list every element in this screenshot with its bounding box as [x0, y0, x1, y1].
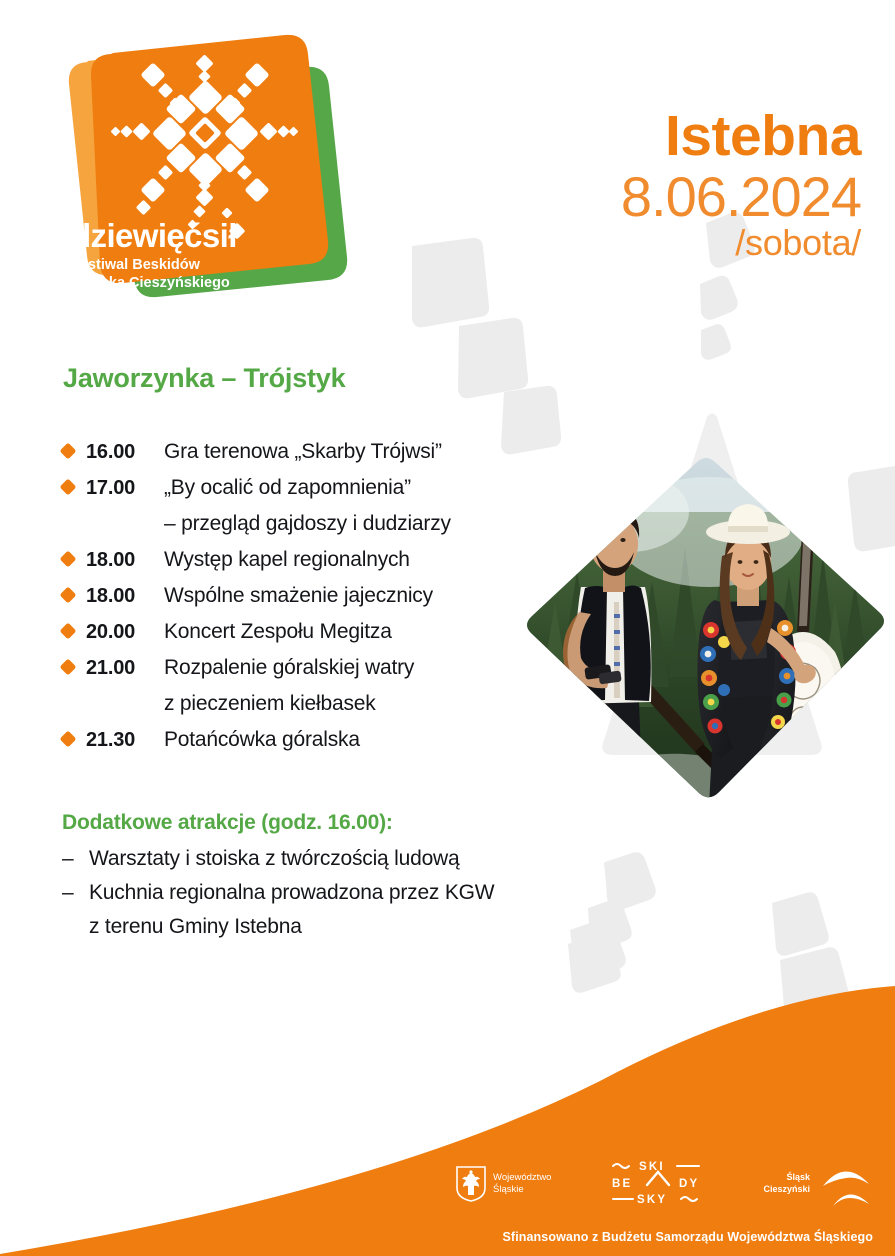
section-title: Jaworzynka – Trójstyk: [63, 363, 345, 394]
cieszyn-line1: Śląsk: [763, 1172, 810, 1184]
schedule-desc: Występ kapel regionalnych: [164, 543, 532, 577]
logo-subtitle-line2: i Śląska Cieszyńskiego: [71, 273, 230, 291]
diamond-bullet-icon: [60, 659, 77, 676]
schedule-desc: Koncert Zespołu Megitza: [164, 615, 532, 649]
wm-shape-5: [700, 276, 738, 320]
schedule-row-continuation: z pieczeniem kiełbasek: [62, 687, 532, 721]
schedule-time: 21.30: [86, 723, 164, 757]
logo-subtitle-line1: Festiwal Beskidów: [71, 257, 201, 273]
mountain-chevrons-icon: [819, 1160, 873, 1208]
dash-marker: –: [62, 876, 89, 910]
wm-shape-1: [412, 238, 489, 327]
financed-text: Sfinansowano z Budżetu Samorządu Wojewód…: [503, 1230, 874, 1244]
schedule-time: 17.00: [86, 471, 164, 505]
cieszyn-line2: Cieszyński: [763, 1184, 810, 1196]
wm-shape-13: [772, 892, 829, 956]
photo-woman: [697, 488, 844, 806]
bullet-cell: [62, 579, 86, 601]
schedule-list: 16.00 Gra terenowa „Skarby Trójwsi” 17.0…: [62, 435, 532, 759]
extras-item-continuation: z terenu Gminy Istebna: [89, 910, 592, 944]
schedule-time: 20.00: [86, 615, 164, 649]
schedule-time: 21.00: [86, 651, 164, 685]
bullet-cell: [62, 651, 86, 673]
schedule-desc: z pieczeniem kiełbasek: [164, 687, 532, 721]
schedule-row: 20.00 Koncert Zespołu Megitza: [62, 615, 532, 649]
bullet-cell: [62, 687, 86, 709]
schedule-desc: „By ocalić od zapomnienia”: [164, 471, 532, 505]
beskidy-logo-svg: SKI BE DY SKY: [607, 1157, 707, 1205]
extras-item: – Warsztaty i stoiska z twórczością ludo…: [62, 842, 592, 876]
schedule-row: 18.00 Występ kapel regionalnych: [62, 543, 532, 577]
diamond-bullet-icon: [60, 731, 77, 748]
band-photo: [519, 452, 893, 806]
festival-logo: dziewięćsił Festiwal Beskidów i Śląska C…: [43, 29, 363, 309]
bullet-cell: [62, 615, 86, 637]
logo-wojewodztwo-slaskie: Województwo Śląskie: [456, 1166, 551, 1202]
extras-title: Dodatkowe atrakcje (godz. 16.00):: [62, 808, 592, 838]
wm-shape-10: [605, 853, 650, 905]
diamond-bullet-icon: [60, 551, 77, 568]
schedule-row: 18.00 Wspólne smażenie jajecznicy: [62, 579, 532, 613]
logo-brand-text: dziewięćsił: [71, 217, 237, 254]
schedule-desc: – przegląd gajdoszy i dudziarzy: [164, 507, 532, 541]
bullet-cell: [62, 471, 86, 493]
schedule-row: 17.00 „By ocalić od zapomnienia”: [62, 471, 532, 505]
bullet-cell: [62, 543, 86, 565]
bullet-cell: [62, 435, 86, 457]
poster-root: dziewięćsił Festiwal Beskidów i Śląska C…: [0, 0, 895, 1256]
headline-block: Istebna 8.06.2024 /sobota/: [621, 108, 861, 262]
wojewodztwo-line2: Śląskie: [493, 1184, 551, 1196]
beskidy-line1-text: SKI: [639, 1161, 665, 1173]
headline-weekday: /sobota/: [621, 224, 861, 262]
headline-date: 8.06.2024: [621, 167, 861, 226]
wojewodztwo-line1: Województwo: [493, 1172, 551, 1184]
schedule-row: 21.00 Rozpalenie góralskiej watry: [62, 651, 532, 685]
silesian-eagle-shield-icon: [456, 1166, 486, 1202]
festival-logo-svg: dziewięćsił Festiwal Beskidów i Śląska C…: [43, 29, 363, 309]
beskidy-line3-text: SKY: [637, 1194, 667, 1205]
dash-marker: –: [62, 842, 89, 876]
footer: Województwo Śląskie SKI BE DY SKY: [0, 1146, 895, 1256]
beskidy-line2-left-text: BE: [612, 1178, 632, 1190]
schedule-desc: Potańcówka góralska: [164, 723, 532, 757]
wm-shape-6: [701, 324, 731, 360]
diamond-bullet-icon: [60, 443, 77, 460]
wm-shape-2: [458, 318, 528, 398]
logo-slask-cieszynski: Śląsk Cieszyński: [763, 1160, 873, 1208]
band-photo-svg: [519, 452, 893, 806]
logo-beskidy: SKI BE DY SKY: [607, 1157, 707, 1210]
schedule-row-continuation: – przegląd gajdoszy i dudziarzy: [62, 507, 532, 541]
footer-logos-row: Województwo Śląskie SKI BE DY SKY: [456, 1157, 873, 1210]
extras-item-text: Warsztaty i stoiska z twórczością ludową: [89, 842, 592, 876]
bullet-cell: [62, 723, 86, 745]
schedule-row: 21.30 Potańcówka góralska: [62, 723, 532, 757]
diamond-bullet-icon: [60, 623, 77, 640]
schedule-row: 16.00 Gra terenowa „Skarby Trójwsi”: [62, 435, 532, 469]
beskidy-line2-right-text: DY: [679, 1178, 699, 1190]
extras-item: – Kuchnia regionalna prowadzona przez KG…: [62, 876, 592, 910]
schedule-time: 16.00: [86, 435, 164, 469]
schedule-desc: Gra terenowa „Skarby Trójwsi”: [164, 435, 532, 469]
bullet-cell: [62, 507, 86, 529]
wm-shape-8: [604, 852, 656, 911]
schedule-time: 18.00: [86, 579, 164, 613]
wm-shape-11: [588, 899, 632, 950]
diamond-bullet-icon: [60, 479, 77, 496]
extras-block: Dodatkowe atrakcje (godz. 16.00): – Wars…: [62, 808, 592, 944]
schedule-time: 18.00: [86, 543, 164, 577]
extras-item-text: Kuchnia regionalna prowadzona przez KGW: [89, 876, 592, 910]
diamond-bullet-icon: [60, 587, 77, 604]
schedule-desc: Wspólne smażenie jajecznicy: [164, 579, 532, 613]
cieszyn-text: Śląsk Cieszyński: [763, 1172, 810, 1195]
schedule-desc: Rozpalenie góralskiej watry: [164, 651, 532, 685]
wojewodztwo-text: Województwo Śląskie: [493, 1172, 551, 1196]
headline-city: Istebna: [621, 108, 861, 165]
